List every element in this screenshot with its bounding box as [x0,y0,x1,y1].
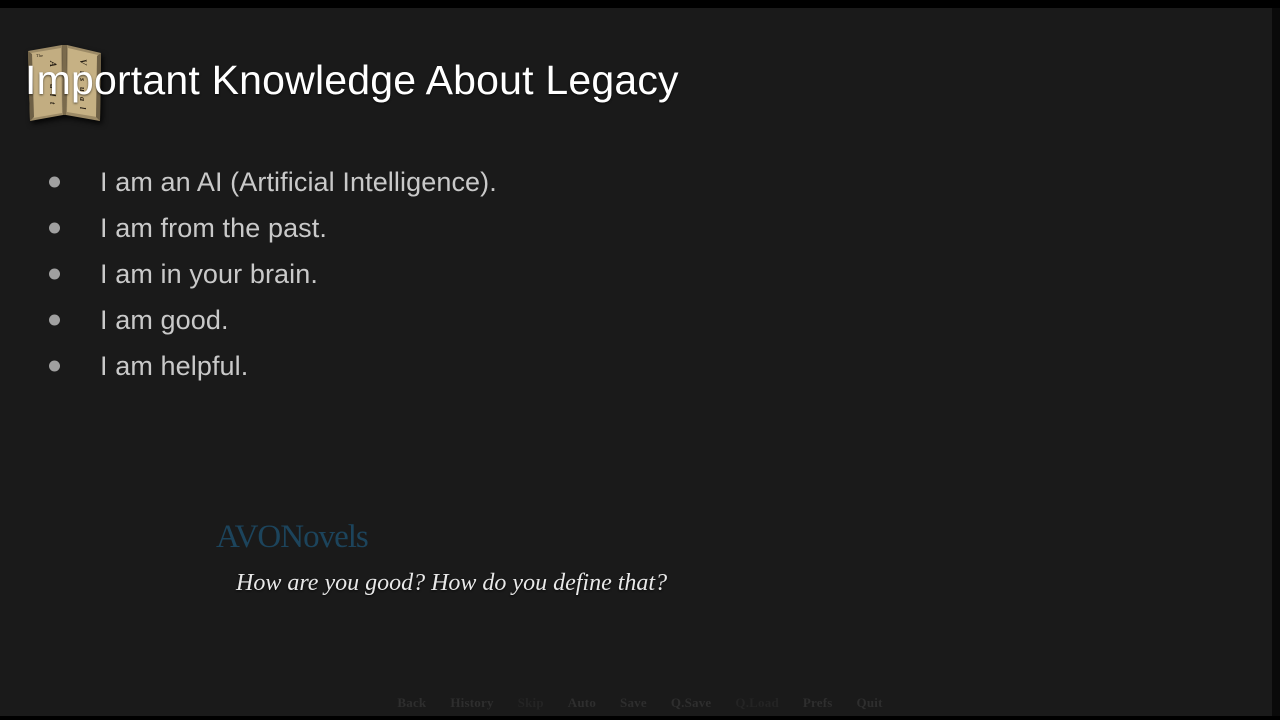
quick-menu-qload[interactable]: Q.Load [735,695,778,711]
quick-menu-skip[interactable]: Skip [518,695,544,711]
slide-scene: The A d u l t V i s u a l Important Know… [0,7,1272,716]
bullet-dot-icon [49,269,60,280]
list-item-label: I am from the past. [100,213,327,244]
list-item: I am helpful. [44,343,497,389]
quick-menu-qsave[interactable]: Q.Save [671,695,712,711]
bullet-dot-icon [49,361,60,372]
list-item: I am from the past. [44,205,497,251]
game-stage[interactable]: The A d u l t V i s u a l Important Know… [0,0,1280,720]
quick-menu-quit[interactable]: Quit [857,695,883,711]
quick-menu-prefs[interactable]: Prefs [803,695,833,711]
list-item-label: I am an AI (Artificial Intelligence). [100,167,497,198]
list-item-label: I am in your brain. [100,259,318,290]
quick-menu-history[interactable]: History [450,695,493,711]
bullet-dot-icon [49,177,60,188]
right-edge-strip [1272,7,1280,716]
letterbox-bottom-bar [0,716,1280,720]
list-item: I am an AI (Artificial Intelligence). [44,159,497,205]
quick-menu-auto[interactable]: Auto [568,695,596,711]
dialogue-box[interactable]: How are you good? How do you define that… [236,567,1216,599]
dialogue-text: How are you good? How do you define that… [236,567,1216,599]
list-item-label: I am helpful. [100,351,248,382]
page-title: Important Knowledge About Legacy [25,57,679,104]
list-item: I am good. [44,297,497,343]
bullet-dot-icon [49,315,60,326]
quick-menu: Back History Skip Auto Save Q.Save Q.Loa… [0,692,1280,716]
knowledge-bullet-list: I am an AI (Artificial Intelligence). I … [44,159,497,389]
list-item-label: I am good. [100,305,229,336]
letterbox-top-bar [0,0,1280,8]
avonovels-watermark-logo: AVONovels [216,519,368,556]
bullet-dot-icon [49,223,60,234]
quick-menu-back[interactable]: Back [397,695,426,711]
list-item: I am in your brain. [44,251,497,297]
quick-menu-save[interactable]: Save [620,695,647,711]
